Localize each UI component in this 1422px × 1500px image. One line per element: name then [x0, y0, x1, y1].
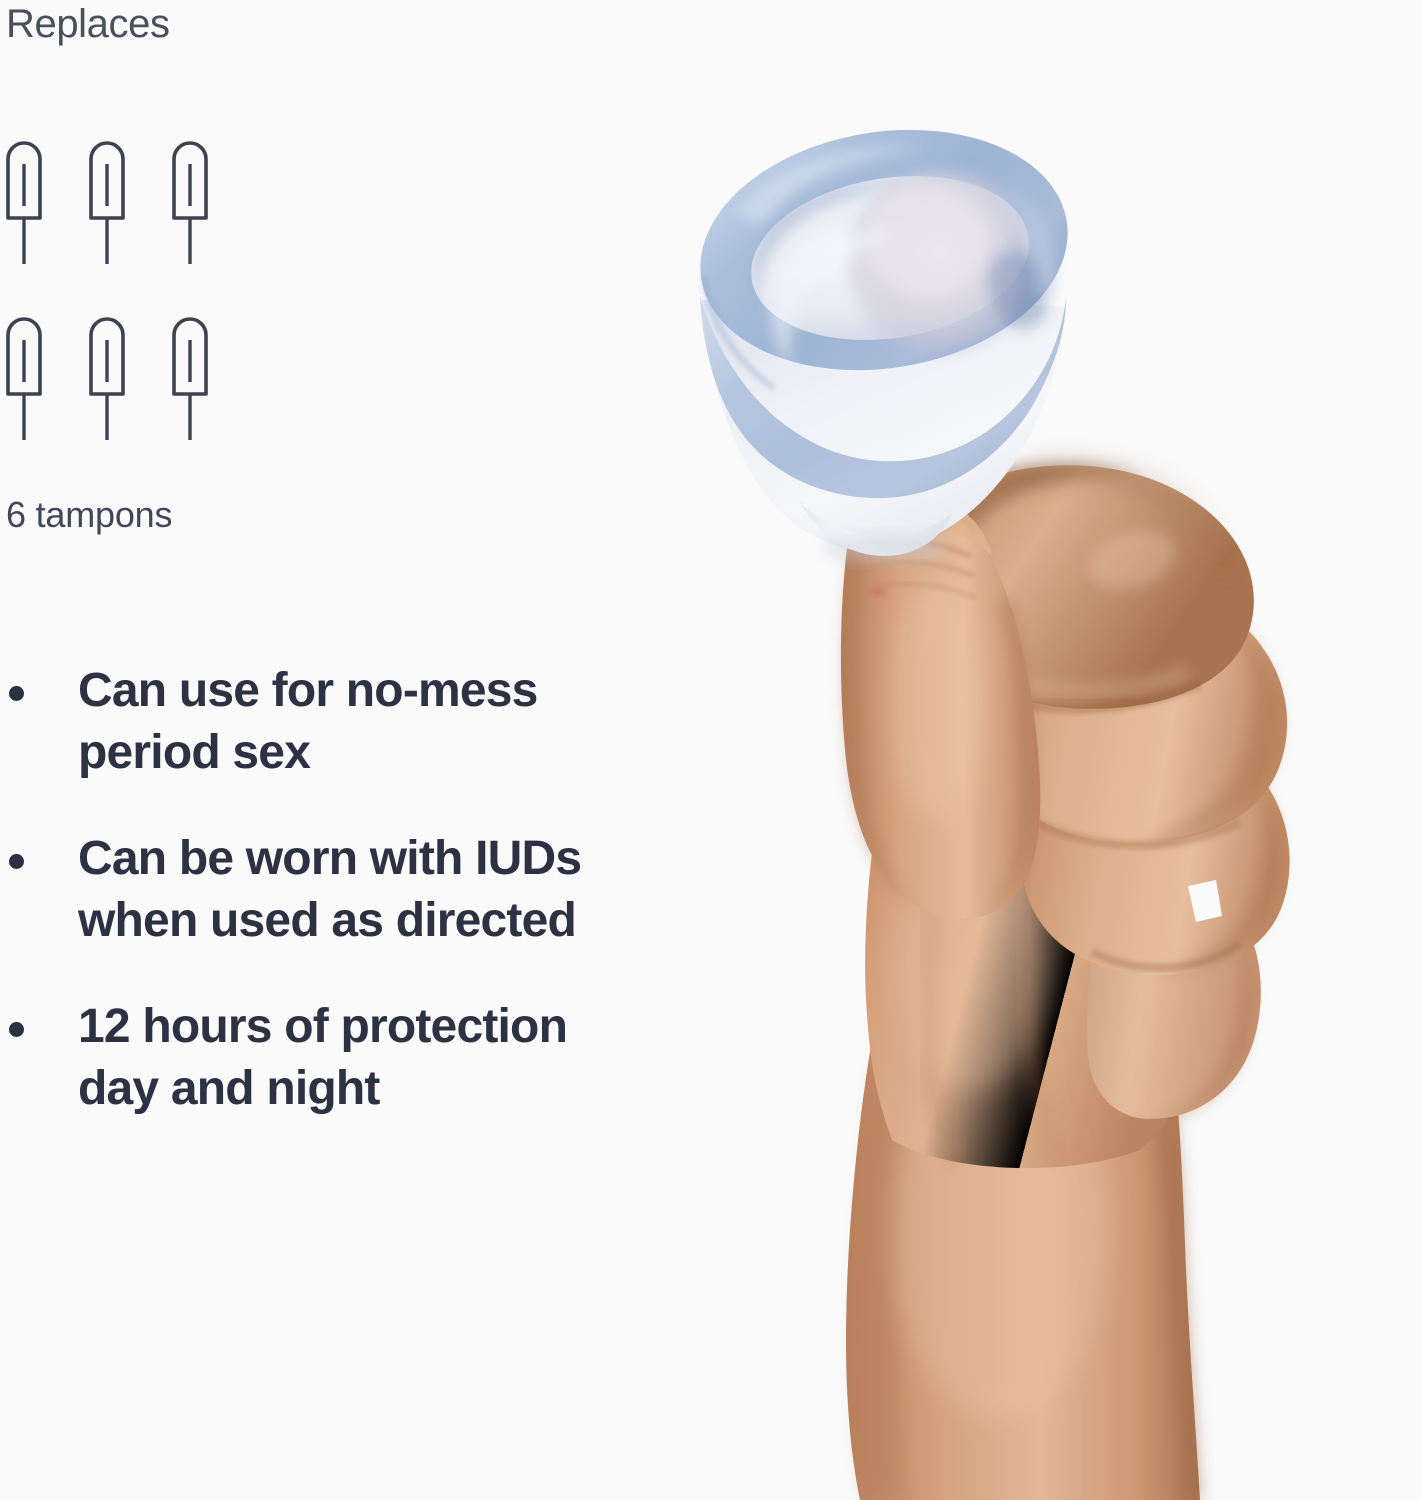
product-infographic: Replaces [0, 0, 1422, 1500]
tampon-icon [4, 294, 52, 442]
bullet-icon [9, 1022, 24, 1037]
tampon-icon [87, 294, 135, 442]
tampon-icon [87, 118, 135, 266]
tampon-icon [4, 118, 52, 266]
tampon-icon-grid [4, 118, 234, 438]
bullet-icon [9, 686, 24, 701]
hand-holding-disc-illustration [640, 0, 1422, 1500]
tampon-icon [170, 294, 218, 442]
bullet-icon [9, 854, 24, 869]
product-photo [640, 0, 1422, 1500]
tampon-icon [170, 118, 218, 266]
page-title: Replaces [6, 2, 170, 47]
replaces-caption: 6 tampons [6, 494, 172, 536]
